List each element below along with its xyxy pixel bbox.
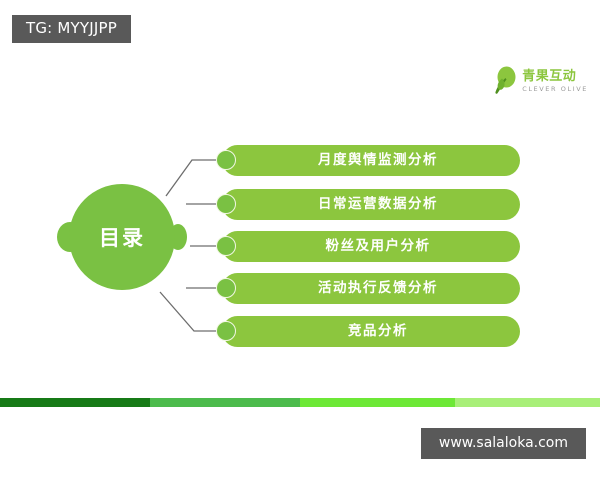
agenda-dot-3 [216,236,236,256]
agenda-bar-4[interactable]: 活动执行反馈分析 [222,273,520,304]
strip-segment-3 [300,398,455,407]
tg-watermark-badge: TG: MYYJJPP [12,15,131,43]
agenda-bar-3[interactable]: 粉丝及用户分析 [222,231,520,262]
agenda-bar-5[interactable]: 竞品分析 [222,316,520,347]
footer-color-strip [0,398,600,407]
olive-leaf-icon [492,66,518,96]
brand-name-cn: 青果互动 [522,70,588,83]
agenda-bar-1[interactable]: 月度舆情监测分析 [222,145,520,176]
agenda-dot-1 [216,150,236,170]
slide-canvas: TG: MYYJJPP 青果互动 CLEVER OLIVE 目录 [0,0,600,480]
brand-name-en: CLEVER OLIVE [522,86,588,93]
hub-node[interactable]: 目录 [57,184,185,290]
strip-segment-1 [0,398,150,407]
agenda-label-3: 粉丝及用户分析 [312,240,431,254]
hub-label: 目录 [69,184,175,290]
agenda-label-5: 竞品分析 [334,325,408,339]
brand-logo: 青果互动 CLEVER OLIVE [492,66,588,96]
agenda-bar-2[interactable]: 日常运营数据分析 [222,189,520,220]
agenda-label-1: 月度舆情监测分析 [304,154,438,168]
strip-segment-2 [150,398,300,407]
agenda-label-4: 活动执行反馈分析 [304,282,438,296]
agenda-dot-4 [216,278,236,298]
agenda-dot-5 [216,321,236,341]
agenda-dot-2 [216,194,236,214]
strip-segment-4 [455,398,600,407]
agenda-label-2: 日常运营数据分析 [304,198,438,212]
url-watermark-badge: www.salaloka.com [421,428,586,459]
